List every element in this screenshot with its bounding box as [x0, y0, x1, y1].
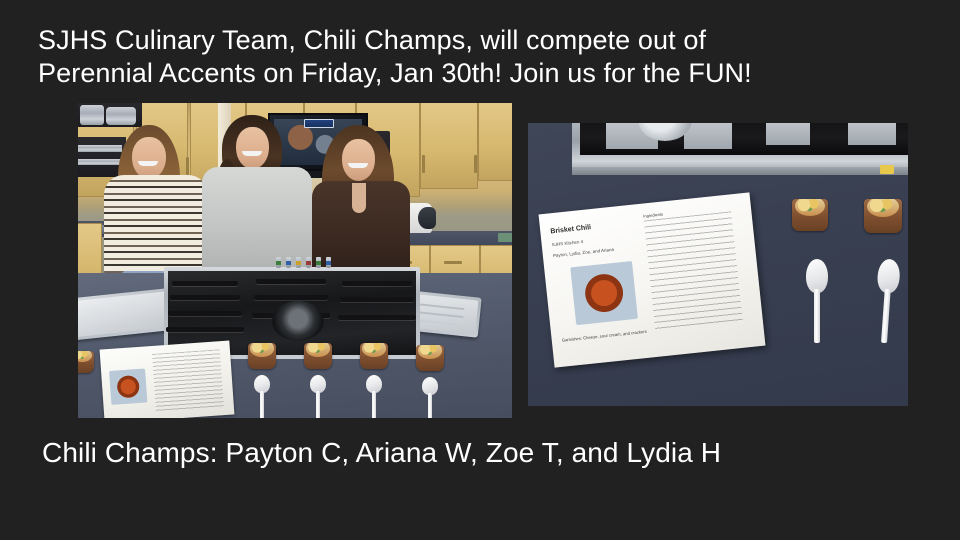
recipe-photo-right: Overhead view of a dark blue counter wit…: [528, 123, 908, 406]
spoon-handle: [881, 288, 891, 342]
steel-pot: [80, 105, 104, 125]
spoon-handle: [260, 391, 264, 418]
cooktop-knob: [316, 257, 321, 268]
chili-sample-cup: [864, 199, 902, 233]
plastic-spoon: [366, 375, 382, 418]
burner-opening: [684, 123, 732, 149]
burner-grate: [256, 279, 326, 284]
ingredient-text-lines: [644, 211, 743, 332]
upper-cabinet: [420, 103, 478, 189]
cooktop-knob-row: [276, 257, 331, 268]
burner-grate: [166, 327, 244, 332]
cooktop-knob: [276, 257, 281, 268]
text-lines: [152, 349, 224, 412]
burner-opening: [766, 123, 810, 145]
burner-grate: [172, 281, 238, 286]
chili-garnish: [78, 351, 92, 362]
recipe-card-small: [100, 341, 235, 418]
student-smile: [138, 161, 158, 166]
recipe-dish-photo: [570, 261, 638, 325]
chili-garnish: [795, 199, 825, 216]
spoon-handle: [372, 391, 376, 418]
chili-garnish: [418, 345, 442, 359]
chili-sample-cup: [78, 351, 94, 373]
chili-sample-cup: [248, 343, 276, 369]
chili-garnish: [250, 343, 274, 357]
center-burner: [272, 301, 324, 341]
student-face: [342, 139, 375, 181]
recipe-ingredient-lines: [152, 349, 224, 412]
recipe-header: Brisket Chili SJHS Kitchen 4 Payton, Lyd…: [550, 217, 649, 259]
chili-sample-cup: [304, 343, 332, 369]
plastic-spoon: [254, 375, 270, 418]
student-smile: [348, 163, 368, 168]
plastic-spoon: [806, 259, 828, 341]
chili-garnish: [362, 343, 386, 357]
cabinet-handle: [474, 155, 477, 173]
burner-grate: [254, 295, 328, 300]
student-face: [132, 137, 166, 179]
yellow-tape-marker: [880, 165, 894, 174]
recipe-footer: Garnishes: Cheese, sour cream, and crack…: [561, 321, 711, 344]
recipe-photo: [109, 369, 147, 405]
cabinet-handle: [422, 155, 425, 173]
plastic-spoon: [422, 377, 438, 418]
chili-sample-cup: [416, 345, 444, 371]
student-face: [236, 127, 269, 169]
chili-sample-cup: [360, 343, 388, 369]
slide-caption: Chili Champs: Payton C, Ariana W, Zoe T,…: [42, 436, 922, 470]
spoon-handle: [814, 289, 820, 343]
spoon-handle: [316, 391, 320, 418]
burner-grate: [342, 281, 412, 286]
upper-cabinet: [478, 103, 512, 181]
page-title: SJHS Culinary Team, Chili Champs, will c…: [38, 24, 922, 90]
student-neckline: [352, 183, 366, 213]
cooktop-knob: [306, 257, 311, 268]
burner-opening: [848, 123, 896, 145]
recipe-ingredients-column: Ingredients: [643, 204, 743, 335]
chili-garnish: [867, 199, 899, 217]
drawer-handle: [444, 261, 462, 264]
counter-item: [498, 233, 512, 242]
cooktop-edge: [572, 167, 908, 175]
cooktop-knob: [286, 257, 291, 268]
presentation-slide: SJHS Culinary Team, Chili Champs, will c…: [0, 0, 960, 540]
recipe-card: Brisket Chili SJHS Kitchen 4 Payton, Lyd…: [539, 192, 766, 367]
burner-grate: [340, 297, 414, 302]
burner-grate: [170, 295, 240, 300]
team-photo-left: Three students in a school kitchen stand…: [78, 103, 512, 418]
steel-pot: [106, 107, 136, 125]
burner-grate: [168, 311, 242, 316]
spoon-handle: [428, 393, 432, 418]
ingredients-list: [644, 211, 743, 332]
baking-tray-surface: [78, 291, 173, 337]
chili-garnish: [306, 343, 330, 357]
cooktop-knob: [326, 257, 331, 268]
student-sweater: [104, 175, 208, 275]
student-smile: [242, 151, 262, 156]
chili-sample-cup: [792, 199, 828, 231]
cooktop-knob: [296, 257, 301, 268]
burner-grate: [338, 315, 416, 320]
plastic-spoon: [310, 375, 326, 418]
